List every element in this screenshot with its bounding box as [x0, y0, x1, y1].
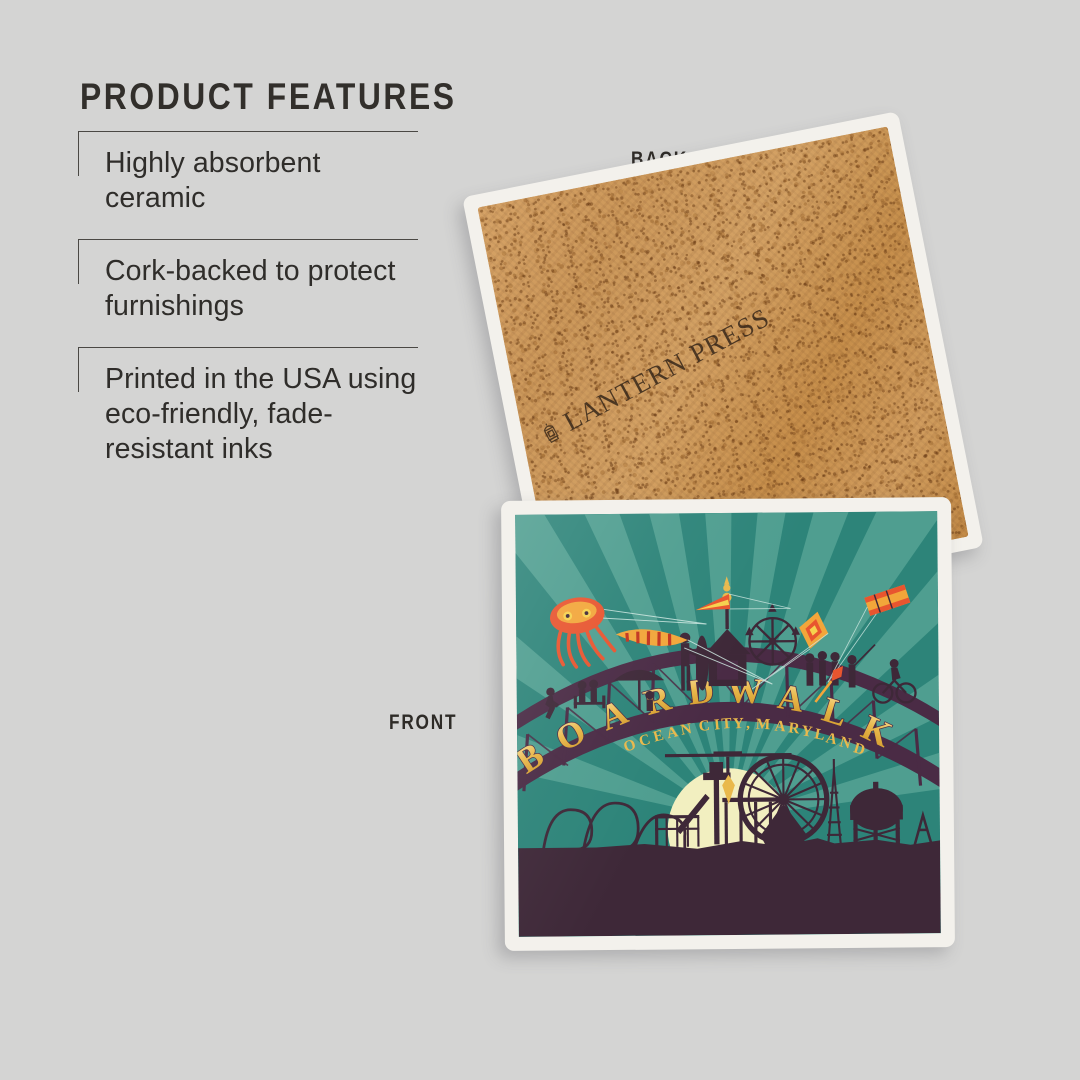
brand-stamp: LANTERN PRESS: [534, 302, 775, 451]
coaster-front: B O A R D W A L K O C E: [501, 497, 955, 951]
product-features-panel: PRODUCT FEATURES Highly absorbent cerami…: [78, 76, 428, 477]
feature-item-text: Cork-backed to protect furnishings: [105, 254, 418, 324]
page-title: PRODUCT FEATURES: [80, 76, 379, 118]
feature-item: Cork-backed to protect furnishings: [78, 239, 418, 334]
svg-text:,: ,: [746, 715, 750, 732]
boardwalk-artwork: B O A R D W A L K O C E: [515, 511, 941, 937]
brand-name: LANTERN PRESS: [559, 302, 776, 438]
feature-item-text: Printed in the USA using eco-friendly, f…: [105, 362, 418, 467]
ground-silhouette: [518, 837, 941, 937]
lantern-icon: [536, 417, 566, 448]
feature-item-text: Highly absorbent ceramic: [105, 146, 418, 216]
svg-text:Y: Y: [733, 715, 745, 732]
svg-text:M: M: [755, 716, 770, 734]
feature-item: Highly absorbent ceramic: [78, 131, 418, 226]
label-front: FRONT: [389, 711, 457, 735]
product-feature-composition: PRODUCT FEATURES Highly absorbent cerami…: [0, 0, 1080, 1080]
svg-text:C: C: [698, 717, 711, 735]
svg-text:A: A: [774, 718, 786, 736]
svg-text:T: T: [721, 715, 733, 733]
feature-item: Printed in the USA using eco-friendly, f…: [78, 347, 418, 477]
